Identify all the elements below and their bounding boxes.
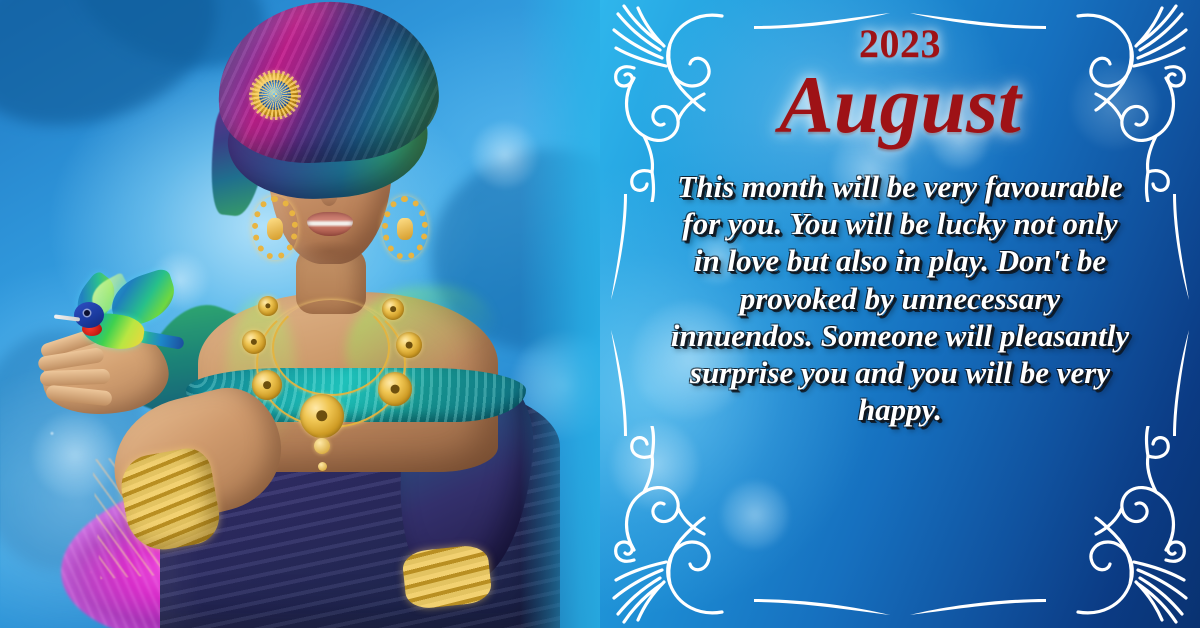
- edge-flourish-left: [608, 190, 630, 445]
- edge-flourish-right: [1170, 190, 1192, 445]
- hoop-earring: [252, 196, 298, 260]
- bokeh-light: [610, 420, 700, 510]
- illustration-panel: [0, 0, 600, 628]
- necklace-disc: [396, 332, 422, 358]
- hoop-earring: [382, 196, 428, 260]
- turban-brooch: [250, 71, 300, 120]
- finger: [40, 369, 110, 386]
- hummingbird: [52, 278, 170, 370]
- necklace-pendant-drop: [318, 462, 327, 471]
- bokeh-light: [720, 480, 790, 550]
- necklace-disc: [252, 370, 282, 400]
- chin-shadow: [298, 240, 362, 262]
- gold-bangles: [401, 544, 493, 611]
- month-heading: August: [600, 58, 1200, 152]
- necklace-disc: [378, 372, 412, 406]
- necklace-disc: [258, 296, 278, 316]
- horoscope-card: 2023 August This month will be very favo…: [0, 0, 1200, 628]
- corner-flourish-bottom-right: [1066, 426, 1196, 626]
- necklace-disc: [242, 330, 266, 354]
- necklace-disc: [382, 298, 404, 320]
- forecast-text: This month will be very favourable for y…: [670, 168, 1130, 428]
- edge-flourish-bottom: [750, 591, 1050, 618]
- hummingbird-eye: [84, 310, 90, 316]
- necklace-pendant: [314, 438, 330, 454]
- turban: [214, 0, 442, 168]
- fortune-teller-figure: [0, 0, 600, 628]
- necklace-pendant-disc: [300, 394, 344, 438]
- text-panel: 2023 August This month will be very favo…: [600, 0, 1200, 628]
